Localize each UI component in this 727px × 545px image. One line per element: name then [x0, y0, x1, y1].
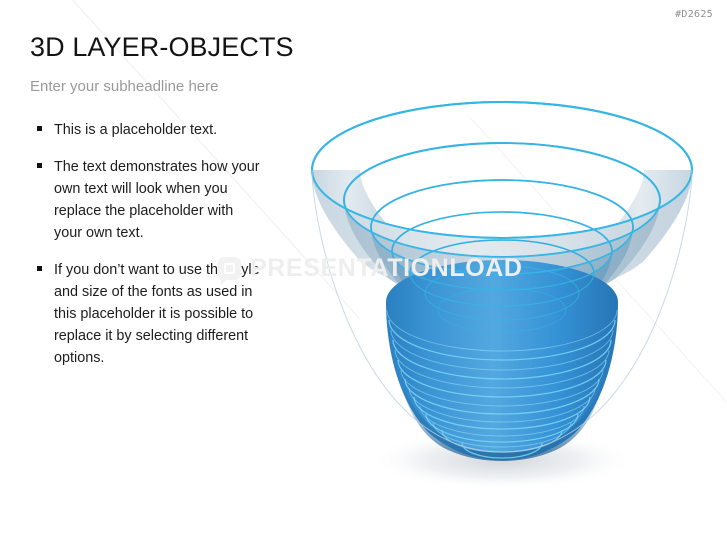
list-item: If you don’t want to use the style and s… — [30, 259, 260, 369]
list-item-text: The text demonstrates how your own text … — [54, 159, 260, 241]
square-bullet-icon — [37, 126, 42, 131]
square-bullet-icon — [37, 163, 42, 168]
square-bullet-icon — [37, 266, 42, 271]
list-item: This is a placeholder text. — [30, 119, 260, 141]
page-title: 3D LAYER-OBJECTS — [30, 32, 294, 63]
bullet-list: This is a placeholder text. The text dem… — [30, 119, 260, 369]
slide-canvas: #D2625 3D LAYER-OBJECTS Enter your subhe… — [0, 0, 727, 545]
list-item-text: This is a placeholder text. — [54, 122, 217, 138]
document-id: #D2625 — [675, 9, 713, 20]
page-subtitle: Enter your subheadline here — [30, 78, 218, 95]
list-item: The text demonstrates how your own text … — [30, 156, 260, 244]
3d-layered-funnel-graphic — [290, 52, 710, 492]
funnel-svg — [290, 52, 710, 492]
list-item-text: If you don’t want to use the style and s… — [54, 262, 260, 366]
